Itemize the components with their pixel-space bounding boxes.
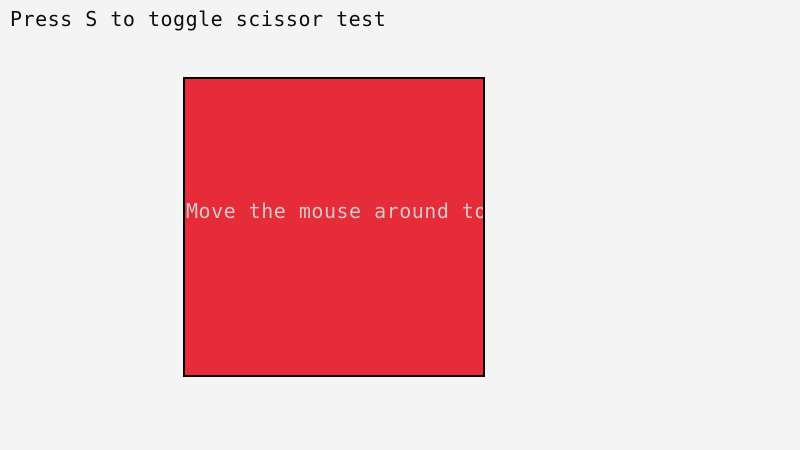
hint-text: Press S to toggle scissor test bbox=[10, 8, 386, 30]
scissor-clipped-text: Move the mouse around to reveal the rest… bbox=[186, 200, 485, 222]
raylib-canvas: Press S to toggle scissor test Move the … bbox=[0, 0, 800, 450]
scissor-rect: Move the mouse around to reveal the rest… bbox=[183, 77, 485, 377]
